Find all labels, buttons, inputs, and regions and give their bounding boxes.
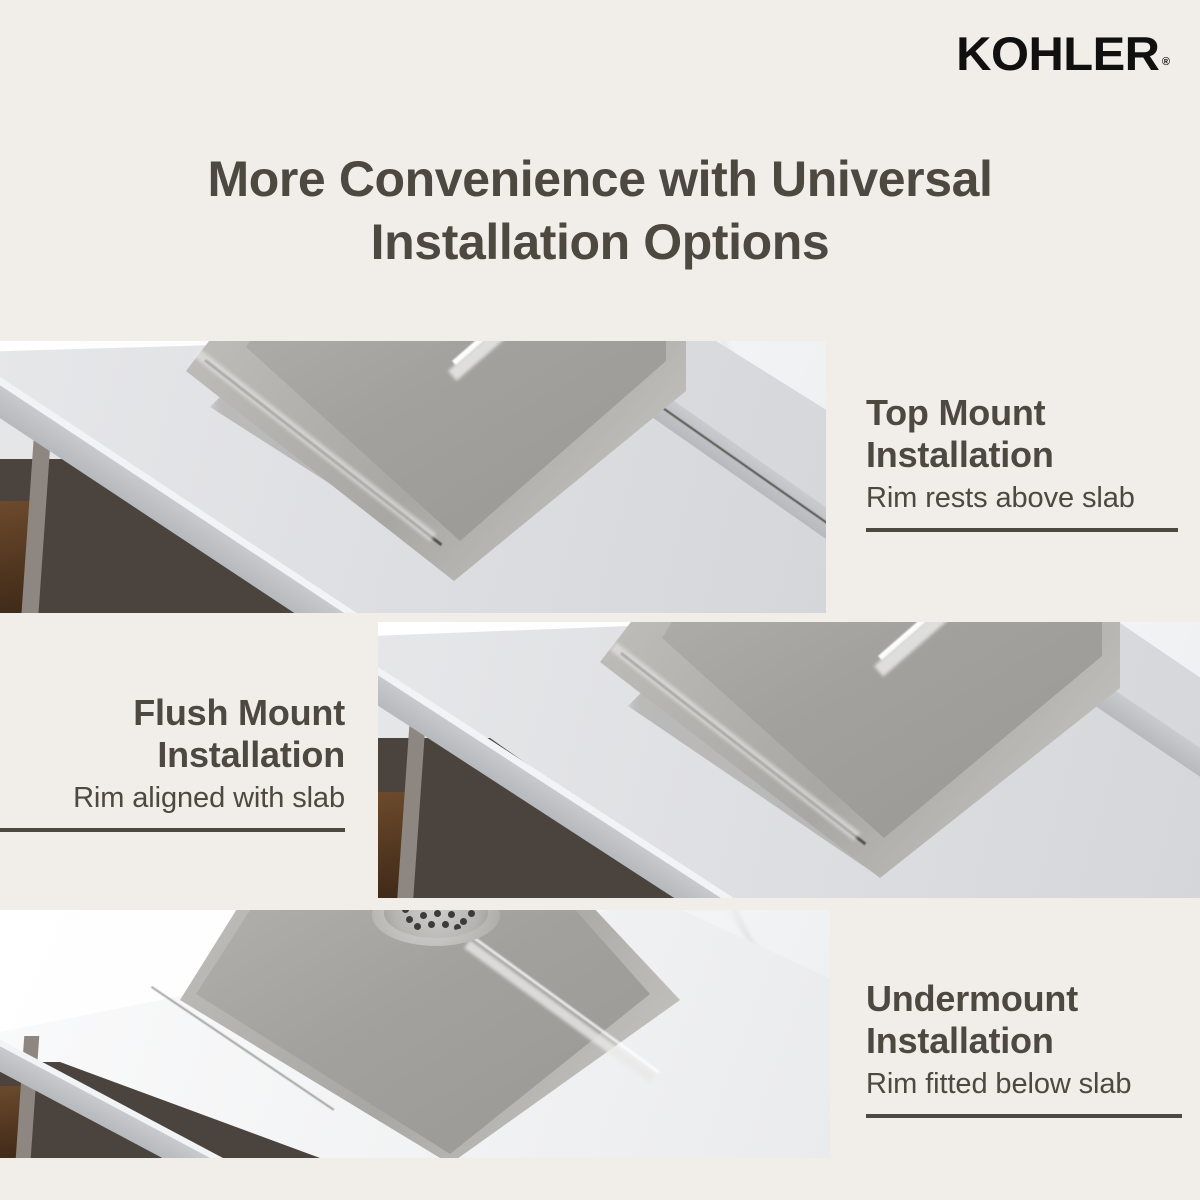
- top-mount-title: Top Mount Installation: [866, 392, 1178, 477]
- flush-mount-subtitle: Rim aligned with slab: [0, 781, 345, 816]
- top-mount-rule: [866, 528, 1178, 532]
- page-title-line-1: More Convenience with Universal: [207, 151, 992, 207]
- page-title-line-2: Installation Options: [0, 211, 1200, 274]
- undermount-caption: Undermount Installation Rim fitted below…: [866, 978, 1182, 1118]
- kohler-logo: KOHLER ®: [964, 30, 1170, 77]
- kohler-wordmark: KOHLER: [957, 30, 1160, 77]
- undermount-subtitle: Rim fitted below slab: [866, 1067, 1182, 1102]
- undermount-title: Undermount Installation: [866, 978, 1182, 1063]
- undermount-rule: [866, 1114, 1182, 1118]
- flush-mount-caption: Flush Mount Installation Rim aligned wit…: [0, 692, 345, 832]
- registered-trademark-icon: ®: [1162, 56, 1170, 68]
- flush-mount-title: Flush Mount Installation: [0, 692, 345, 777]
- page-title: More Convenience with Universal Installa…: [0, 148, 1200, 274]
- top-mount-photo: [0, 341, 826, 613]
- top-mount-subtitle: Rim rests above slab: [866, 481, 1178, 516]
- undermount-photo: [0, 910, 830, 1158]
- flush-mount-rule: [0, 828, 345, 832]
- top-mount-caption: Top Mount Installation Rim rests above s…: [866, 392, 1178, 532]
- flush-mount-photo: [378, 622, 1200, 898]
